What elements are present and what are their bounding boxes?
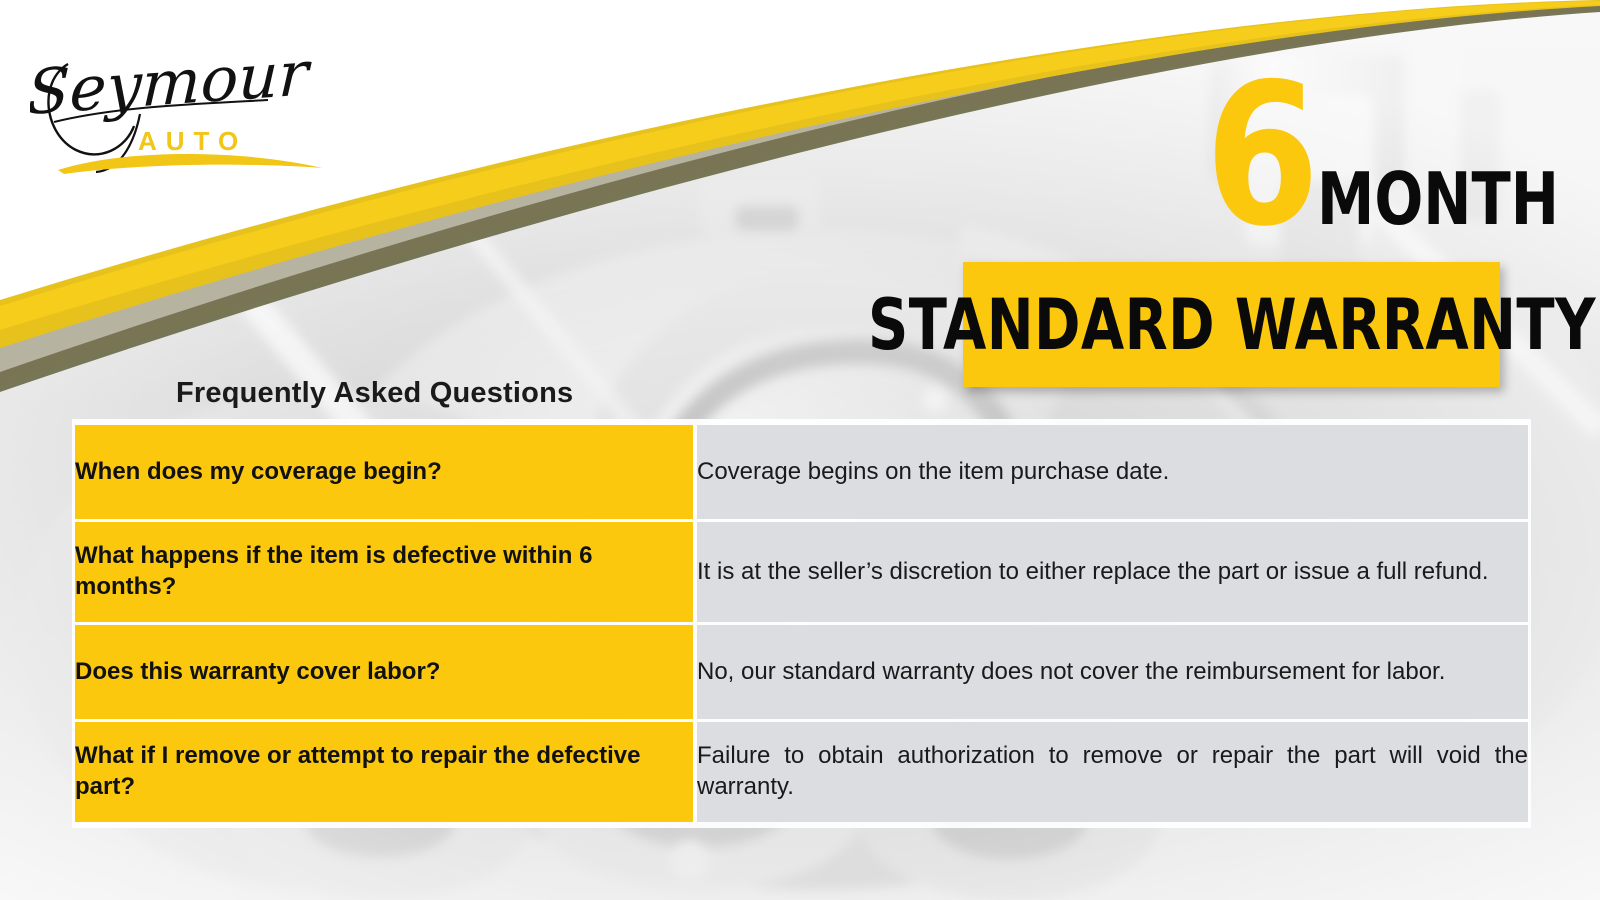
faq-question-cell: Does this warranty cover labor? [75,625,693,719]
faq-answer-cell: It is at the seller’s discretion to eith… [697,522,1528,622]
faq-answer-cell: Failure to obtain authorization to remov… [697,722,1528,822]
warranty-slide: Seymour AUTO 6 MONTH STANDARD WARRANTY F… [0,0,1600,900]
warranty-duration-headline: 6 MONTH [1205,78,1600,235]
faq-question-cell: What happens if the item is defective wi… [75,522,693,622]
faq-table: When does my coverage begin? Coverage be… [72,419,1531,828]
logo-wordmark-text: Seymour [30,37,313,129]
seymour-auto-logo: Seymour AUTO [30,22,330,177]
faq-answer-cell: No, our standard warranty does not cover… [697,625,1528,719]
table-row: What if I remove or attempt to repair th… [75,722,1528,822]
faq-answer-cell: Coverage begins on the item purchase dat… [697,425,1528,519]
faq-question-cell: When does my coverage begin? [75,425,693,519]
banner-title: STANDARD WARRANTY [868,290,1596,360]
duration-unit: MONTH [1317,169,1559,235]
table-row: When does my coverage begin? Coverage be… [75,425,1528,519]
faq-question-cell: What if I remove or attempt to repair th… [75,722,693,822]
table-row: Does this warranty cover labor? No, our … [75,625,1528,719]
faq-heading: Frequently Asked Questions [176,378,573,410]
faq-table-element: When does my coverage begin? Coverage be… [75,422,1528,825]
standard-warranty-banner: STANDARD WARRANTY [963,262,1500,387]
duration-number: 6 [1205,78,1316,235]
logo-subtext: AUTO [138,126,247,156]
table-row: What happens if the item is defective wi… [75,522,1528,622]
faq-table-body: When does my coverage begin? Coverage be… [75,425,1528,822]
